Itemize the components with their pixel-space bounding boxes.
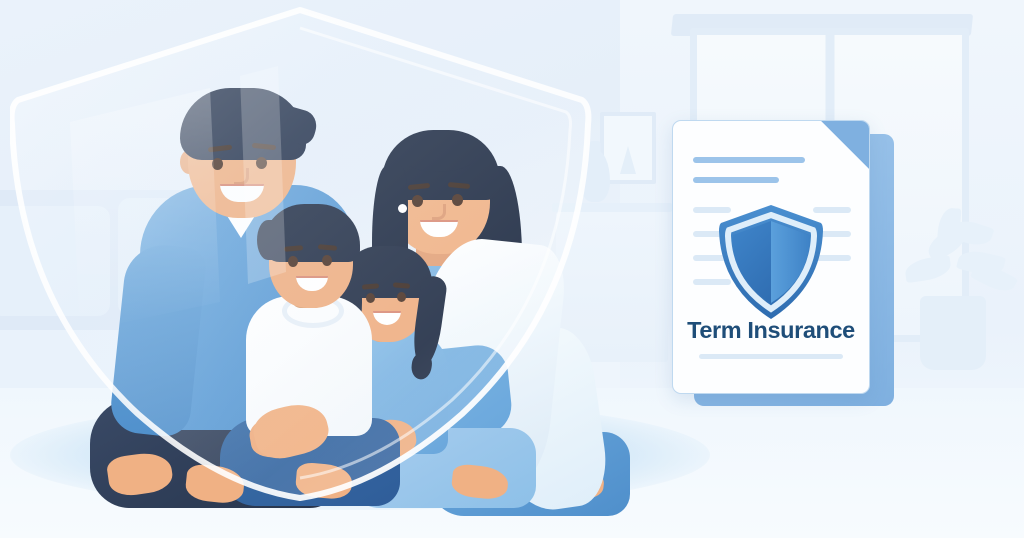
father-eye [212, 158, 223, 170]
insurance-hero-scene: Term Insurance [0, 0, 1024, 538]
doc-text-line [693, 177, 779, 183]
term-insurance-document-card[interactable]: Term Insurance [672, 120, 894, 406]
mother-eye [412, 195, 423, 207]
daughter-eye [397, 292, 406, 302]
document-front-page: Term Insurance [672, 120, 870, 394]
plant-pot [920, 296, 986, 370]
father-nose [234, 168, 249, 185]
document-title: Term Insurance [673, 317, 869, 344]
father-eye [256, 157, 267, 169]
doc-text-line [693, 157, 805, 163]
mother-earring [398, 204, 407, 213]
family-illustration [60, 80, 620, 500]
son-eye [288, 256, 298, 267]
son-eye [322, 255, 332, 266]
shield-icon [717, 203, 825, 321]
daughter-eye [366, 293, 375, 303]
document-title-underline [699, 354, 843, 359]
mother-eye [452, 194, 463, 206]
